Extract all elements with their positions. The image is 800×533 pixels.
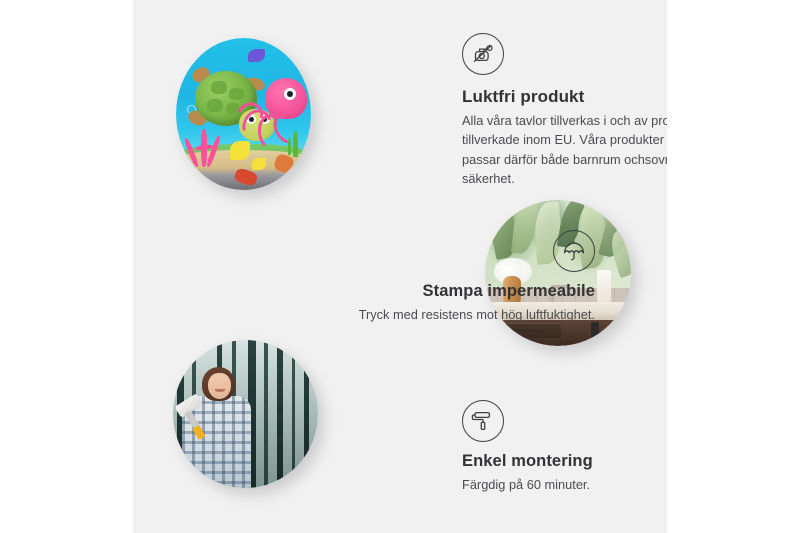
feature-odor-free: Luktfri produkt Alla våra tavlor tillver… [462,33,667,189]
feature-description: Alla våra tavlor tillverkas i och av pro… [462,111,667,189]
feature-easy-mounting: Enkel montering Färgdig på 60 minuter. [462,400,667,494]
tree-trunk [292,340,295,488]
coral-branch [205,135,221,168]
shell-plate [207,99,223,112]
feature-description: Tryck med resistens mot hög luftfuktighe… [323,305,595,324]
shell-plate [211,81,227,94]
forest-wallpaper-image [173,340,318,488]
coral [184,129,225,172]
coral-branch [183,137,200,168]
medallion-forest [173,340,318,488]
no-fragrance-bottle-icon [462,33,504,75]
cabinet-handle [591,322,599,340]
feature-waterproof: Stampa impermeabile Tryck med resistens … [323,230,595,324]
tree-trunk [304,340,310,488]
woman-face [208,373,231,400]
promo-banner: Luktfri produkt Alla våra tavlor tillver… [0,0,800,533]
feature-title: Enkel montering [462,452,667,471]
paint-roller-icon [462,400,504,442]
coral-branch [194,143,212,151]
feature-title: Luktfri produkt [462,87,667,107]
medallion-ocean [176,38,311,190]
tree-trunk [264,340,268,488]
fish-yellow [230,141,250,159]
umbrella-icon [553,230,595,272]
shell-plate [229,88,244,100]
content-panel: Luktfri produkt Alla våra tavlor tillver… [133,0,667,533]
ocean-mural-image [176,38,311,190]
feature-description: Färgdig på 60 minuter. [462,475,667,494]
tree-trunk [277,340,283,488]
feature-title: Stampa impermeabile [323,282,595,301]
soap-dispenser [597,270,610,302]
